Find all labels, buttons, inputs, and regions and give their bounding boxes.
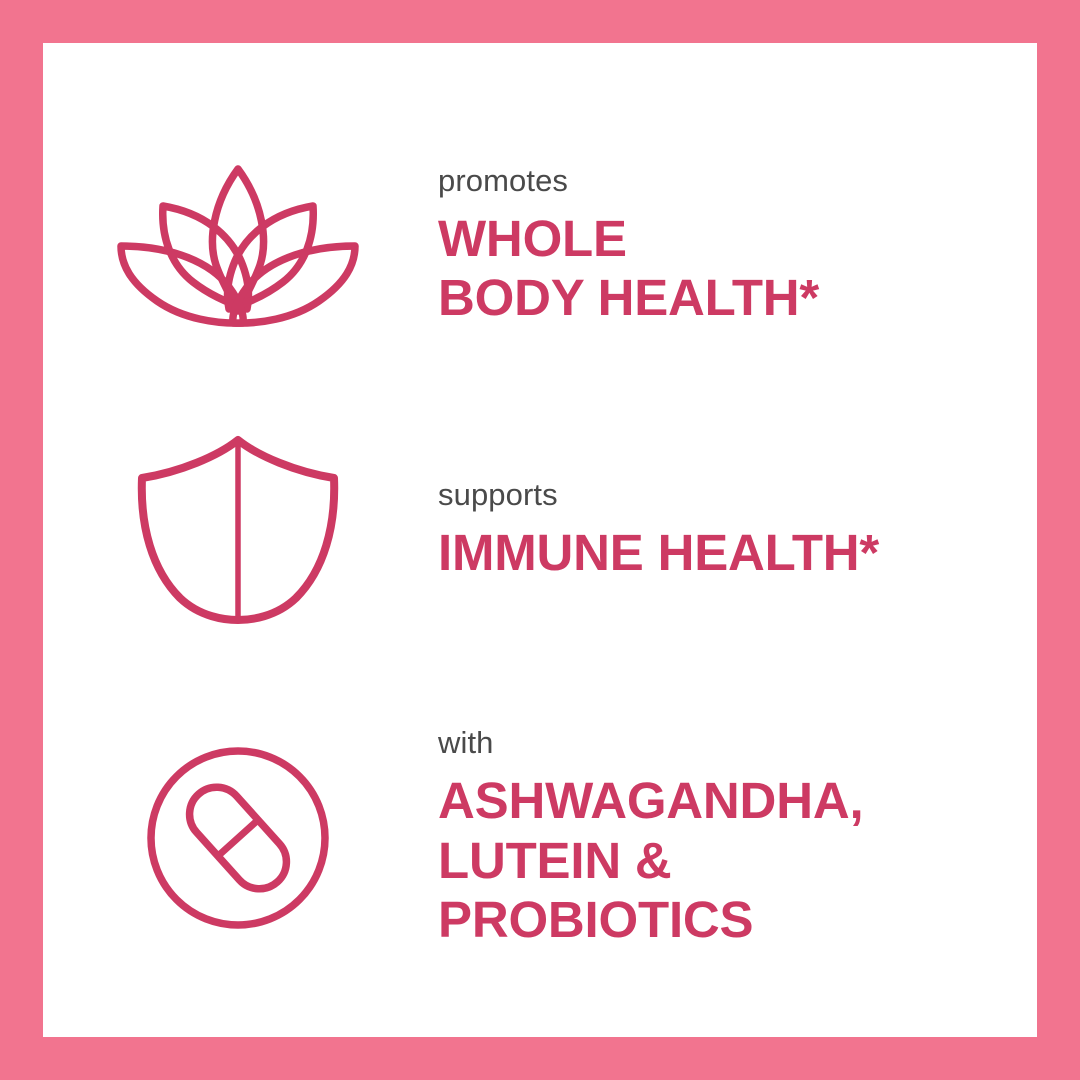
white-panel: promotes WHOLE BODY HEALTH* supports xyxy=(43,43,1037,1037)
headline-line: WHOLE xyxy=(438,209,1037,269)
lotus-flower-icon xyxy=(43,161,433,331)
benefit-row: with ASHWAGANDHA, LUTEIN & PROBIOTICS xyxy=(43,673,1037,1003)
benefit-eyebrow: promotes xyxy=(438,164,1037,199)
headline-line: BODY HEALTH* xyxy=(438,268,1037,328)
benefit-row: supports IMMUNE HEALTH* xyxy=(43,395,1037,665)
product-benefits-infographic: promotes WHOLE BODY HEALTH* supports xyxy=(0,0,1080,1080)
benefit-text: supports IMMUNE HEALTH* xyxy=(433,478,1037,582)
headline-line: LUTEIN & xyxy=(438,831,1037,891)
benefit-text: promotes WHOLE BODY HEALTH* xyxy=(433,164,1037,328)
benefit-row: promotes WHOLE BODY HEALTH* xyxy=(43,101,1037,391)
headline-line: PROBIOTICS xyxy=(438,890,1037,950)
benefit-headline: ASHWAGANDHA, LUTEIN & PROBIOTICS xyxy=(438,771,1037,950)
shield-icon xyxy=(43,434,433,626)
benefit-eyebrow: with xyxy=(438,726,1037,761)
benefit-headline: IMMUNE HEALTH* xyxy=(438,523,1037,583)
benefit-text: with ASHWAGANDHA, LUTEIN & PROBIOTICS xyxy=(433,726,1037,950)
capsule-in-circle-icon xyxy=(43,745,433,931)
benefit-eyebrow: supports xyxy=(438,478,1037,513)
benefit-headline: WHOLE BODY HEALTH* xyxy=(438,209,1037,328)
headline-line: IMMUNE HEALTH* xyxy=(438,523,1037,583)
headline-line: ASHWAGANDHA, xyxy=(438,771,1037,831)
